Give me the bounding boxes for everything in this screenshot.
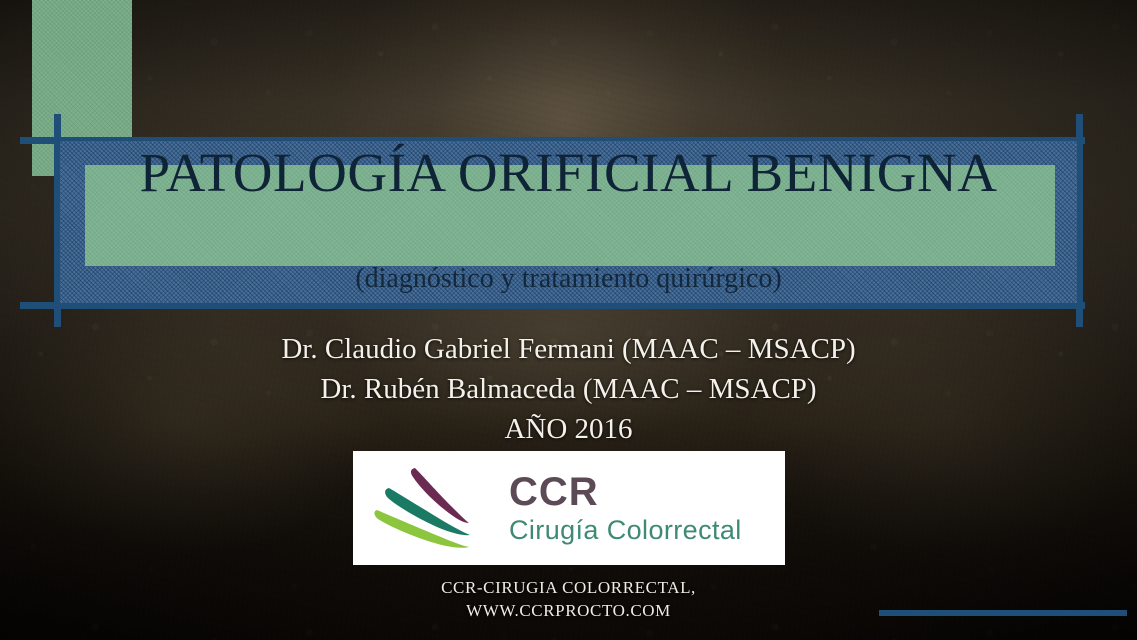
authors-block: Dr. Claudio Gabriel Fermani (MAAC – MSAC… xyxy=(0,331,1137,451)
ccr-logo-card: CCR Cirugía Colorrectal xyxy=(353,451,785,565)
decorative-rule-bottom-right xyxy=(879,610,1127,616)
slide-title: PATOLOGÍA ORIFICIAL BENIGNA xyxy=(60,144,1077,202)
logo-tagline-text: Cirugía Colorrectal xyxy=(509,517,742,544)
slide-subtitle: (diagnóstico y tratamiento quirúrgico) xyxy=(60,262,1077,296)
decorative-rule-bottom-horizontal xyxy=(20,302,1085,309)
author-line-2: Dr. Rubén Balmaceda (MAAC – MSACP) xyxy=(0,371,1137,407)
author-line-1: Dr. Claudio Gabriel Fermani (MAAC – MSAC… xyxy=(0,331,1137,367)
footer-line-1: CCR-CIRUGIA COLORRECTAL, xyxy=(0,576,1137,599)
ccr-leaves-icon xyxy=(371,462,503,554)
logo-brand-text: CCR xyxy=(509,472,742,512)
decorative-rule-right-vertical xyxy=(1076,114,1083,327)
year-line: AÑO 2016 xyxy=(0,411,1137,447)
presentation-slide: PATOLOGÍA ORIFICIAL BENIGNA (diagnóstico… xyxy=(0,0,1137,640)
